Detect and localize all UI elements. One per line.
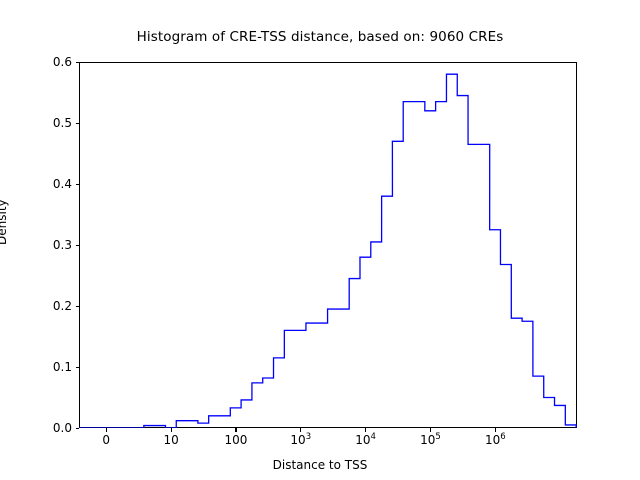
y-tick-label: 0.1 [32,360,72,374]
x-tick-label: 100 [224,433,247,447]
y-tick-mark [76,123,80,124]
x-tick-mark [430,428,431,432]
x-tick-label: 105 [420,433,441,447]
x-tick-mark [300,428,301,432]
x-tick-mark [106,428,107,432]
chart-title: Histogram of CRE-TSS distance, based on:… [0,29,640,45]
y-tick-label: 0.0 [32,421,72,435]
x-tick-mark [365,428,366,432]
y-tick-mark [76,245,80,246]
y-tick-mark [76,428,80,429]
y-tick-label: 0.4 [32,177,72,191]
y-axis-label: Density [0,199,9,245]
x-tick-label: 0 [102,433,110,447]
x-tick-mark [171,428,172,432]
x-axis-label: Distance to TSS [0,458,640,472]
histogram-step-line [79,62,577,428]
y-tick-label: 0.5 [32,116,72,130]
y-tick-label: 0.3 [32,238,72,252]
y-tick-label: 0.2 [32,299,72,313]
y-tick-mark [76,184,80,185]
y-tick-mark [76,62,80,63]
x-tick-label: 103 [290,433,311,447]
x-tick-mark [495,428,496,432]
y-tick-mark [76,367,80,368]
y-tick-mark [76,306,80,307]
histogram-figure: Histogram of CRE-TSS distance, based on:… [0,0,640,480]
x-tick-mark [235,428,236,432]
x-tick-label: 106 [485,433,506,447]
y-tick-label: 0.6 [32,55,72,69]
x-tick-label: 104 [355,433,376,447]
x-tick-label: 10 [163,433,178,447]
